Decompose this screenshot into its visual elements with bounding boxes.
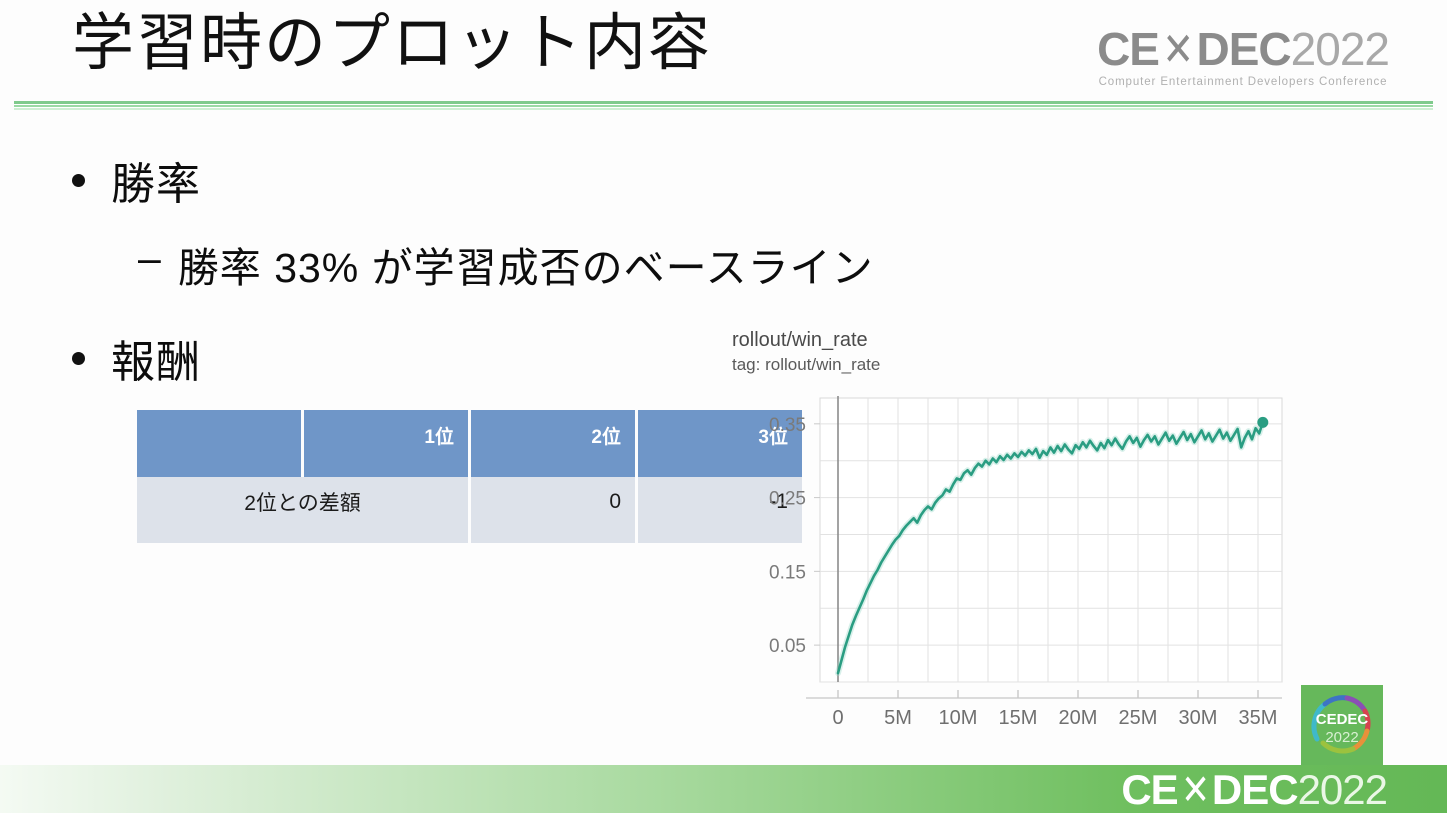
footer-logo-dec: DEC (1212, 766, 1298, 813)
svg-text:0.25: 0.25 (769, 489, 806, 510)
cedec-badge-text: CEDEC (1316, 711, 1369, 728)
svg-text:0.15: 0.15 (769, 562, 806, 583)
svg-text:20M: 20M (1059, 707, 1098, 729)
chart-title: rollout/win_rate (732, 328, 1312, 354)
bullet-dot-icon (72, 174, 85, 187)
sub-bullet-baseline: – 勝率 33% が学習成否のベースライン (138, 234, 874, 294)
footer-logo: CE✕DEC2022 (1121, 769, 1387, 811)
cedec-header-logo-dec: DEC (1197, 23, 1291, 75)
page-title: 学習時のプロット内容 (72, 8, 712, 79)
footer-logo-year: 2022 (1298, 766, 1387, 813)
table-row: 2位との差額 0 -1 (137, 477, 802, 543)
cedec-header-logo-subtitle: Computer Entertainment Developers Confer… (1097, 76, 1389, 88)
cedec-x-icon: ✕ (1162, 26, 1193, 72)
svg-text:0.05: 0.05 (769, 636, 806, 657)
cedec-badge-ring-icon: CEDEC 2022 (1303, 687, 1381, 763)
cedec-header-logo-year: 2022 (1291, 23, 1389, 75)
svg-text:25M: 25M (1119, 707, 1158, 729)
bullet-reward: 報酬 (72, 326, 201, 390)
win-rate-chart: rollout/win_rate tag: rollout/win_rate 0… (732, 328, 1312, 728)
svg-text:10M: 10M (939, 707, 978, 729)
chart-plot-area: 0.050.150.250.3505M10M15M20M25M30M35M (722, 384, 1302, 734)
bullet-win-rate-label: 勝率 (111, 148, 201, 212)
chart-subtitle: tag: rollout/win_rate (732, 354, 1312, 376)
sub-bullet-dash-icon: – (138, 238, 162, 279)
svg-text:30M: 30M (1179, 707, 1218, 729)
bullet-reward-label: 報酬 (111, 326, 201, 390)
cedec-badge-year: 2022 (1325, 729, 1358, 746)
cedec-header-logo-ce: CE (1097, 23, 1159, 75)
table-header-blank (137, 410, 301, 477)
cedec-badge-logo: CEDEC 2022 (1301, 685, 1383, 765)
sub-bullet-baseline-label: 勝率 33% が学習成否のベースライン (178, 234, 874, 294)
svg-text:35M: 35M (1239, 707, 1278, 729)
slide: 学習時のプロット内容 CE✕DEC2022 Computer Entertain… (0, 0, 1447, 813)
reward-table: 1位 2位 3位 2位との差額 0 -1 (134, 410, 805, 543)
footer-logo-ce: CE (1121, 766, 1177, 813)
bullet-win-rate: 勝率 (72, 148, 201, 212)
header-divider (14, 101, 1433, 110)
bullet-dot-icon (72, 352, 85, 365)
table-header-row: 1位 2位 3位 (137, 410, 802, 477)
table-cell-row-label: 2位との差額 (137, 477, 468, 543)
svg-text:0.35: 0.35 (769, 415, 806, 436)
table-cell-rank2-value: 0 (471, 477, 635, 543)
table-header-rank1: 1位 (304, 410, 468, 477)
table-header-rank2: 2位 (471, 410, 635, 477)
svg-text:0: 0 (832, 707, 843, 729)
cedec-header-logo: CE✕DEC2022 Computer Entertainment Develo… (1097, 26, 1389, 88)
footer-cedec-x-icon: ✕ (1181, 769, 1209, 811)
svg-text:15M: 15M (999, 707, 1038, 729)
svg-text:5M: 5M (884, 707, 912, 729)
